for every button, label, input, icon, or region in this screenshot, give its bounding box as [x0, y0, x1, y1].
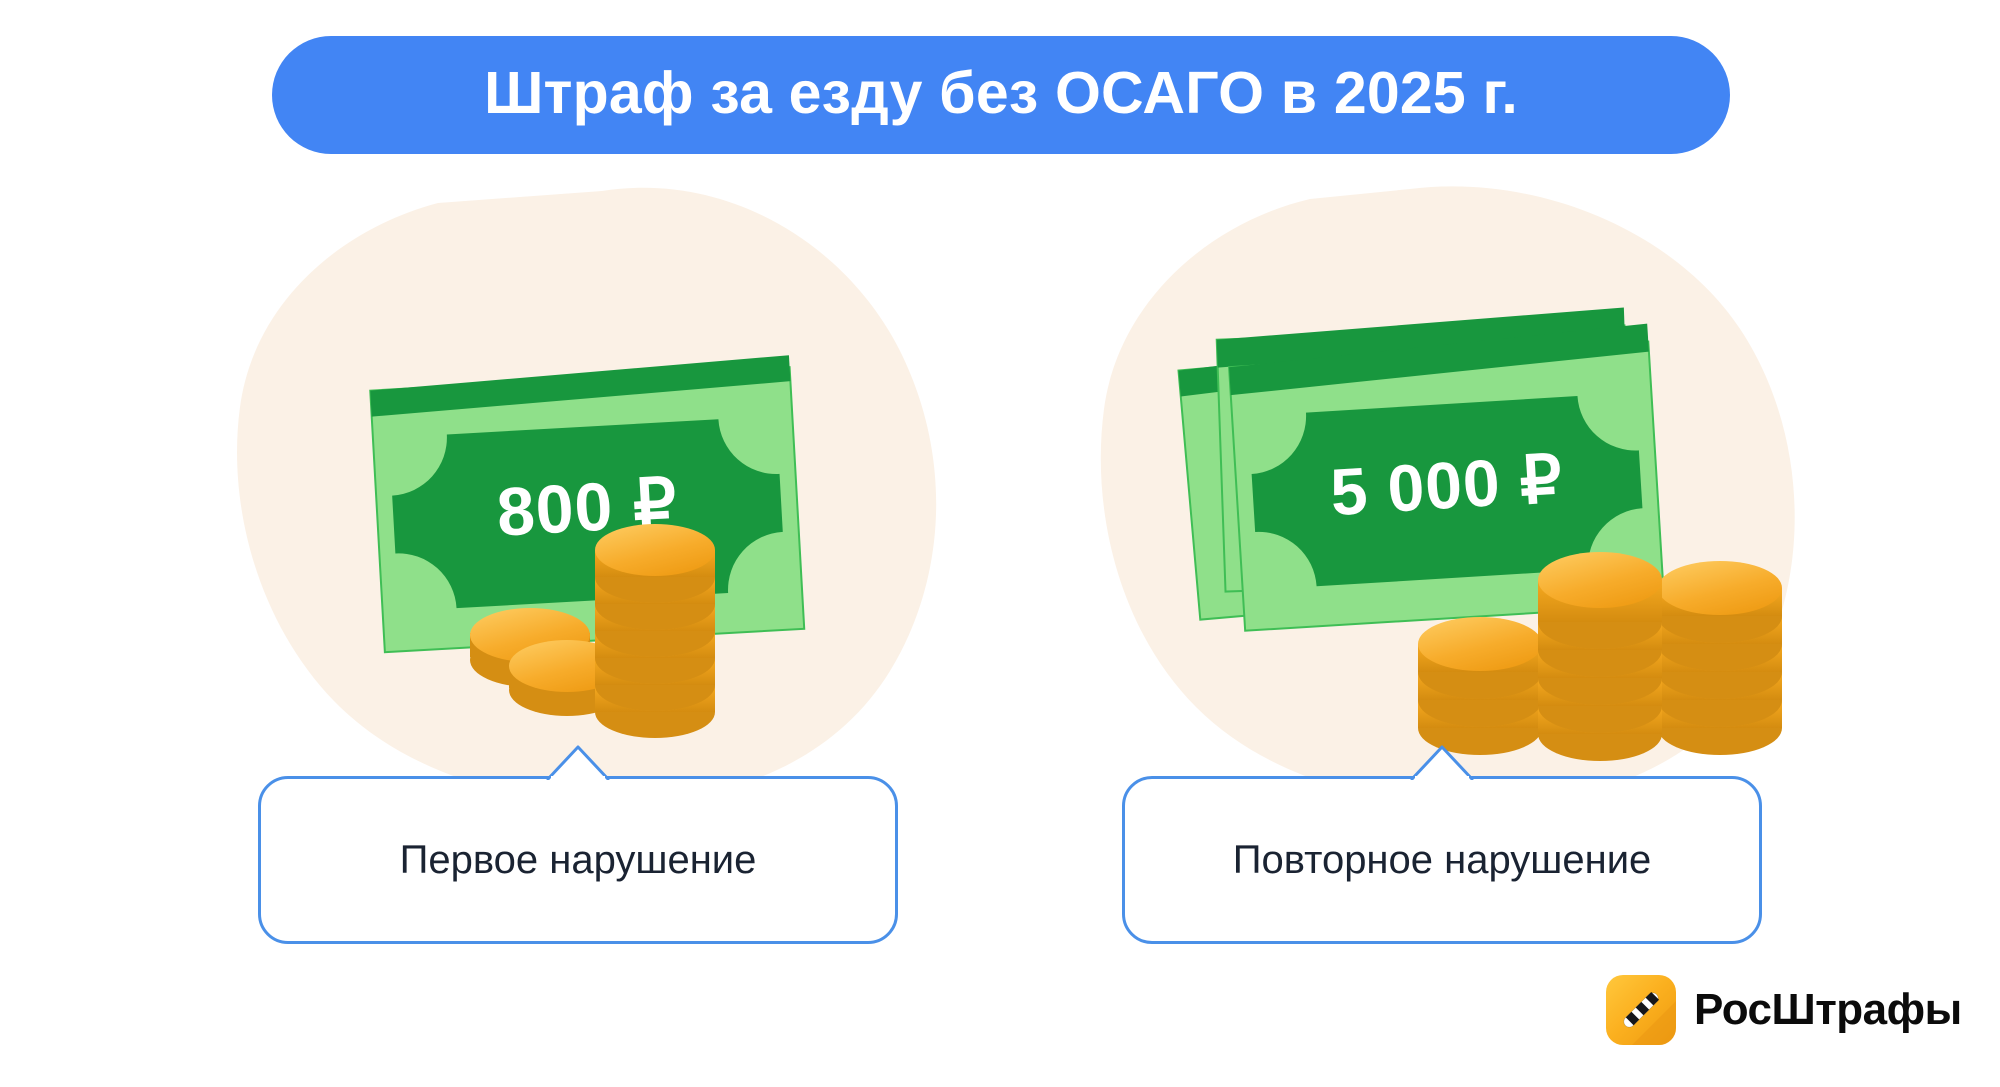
callout-repeat-violation[interactable]: Повторное нарушение — [1122, 776, 1762, 944]
coin-stack-3 — [1418, 617, 1542, 755]
callout-label-repeat-violation: Повторное нарушение — [1233, 840, 1652, 880]
coin-stack-6 — [595, 524, 715, 738]
callout-label-first-violation: Первое нарушение — [400, 840, 757, 880]
amount-label-5000: 5 000 ₽ — [1328, 441, 1565, 529]
coin-stack-5-right — [1658, 561, 1782, 755]
banknote-800: 800 ₽ — [370, 355, 805, 652]
title-banner: Штраф за езду без ОСАГО в 2025 г. — [272, 36, 1730, 154]
illustration-first-violation: 800 ₽ — [355, 330, 895, 750]
brand-logo[interactable]: РосШтрафы — [1606, 975, 1962, 1045]
infographic-canvas: Штраф за езду без ОСАГО в 2025 г. — [0, 0, 2000, 1087]
page-title: Штраф за езду без ОСАГО в 2025 г. — [484, 64, 1518, 127]
callout-first-violation[interactable]: Первое нарушение — [258, 776, 898, 944]
brand-wordmark: РосШтрафы — [1694, 988, 1962, 1032]
police-baton-icon — [1606, 975, 1676, 1045]
illustration-repeat-violation: 5 000 ₽ — [1180, 292, 1800, 762]
coin-stack-5-middle — [1538, 552, 1662, 761]
